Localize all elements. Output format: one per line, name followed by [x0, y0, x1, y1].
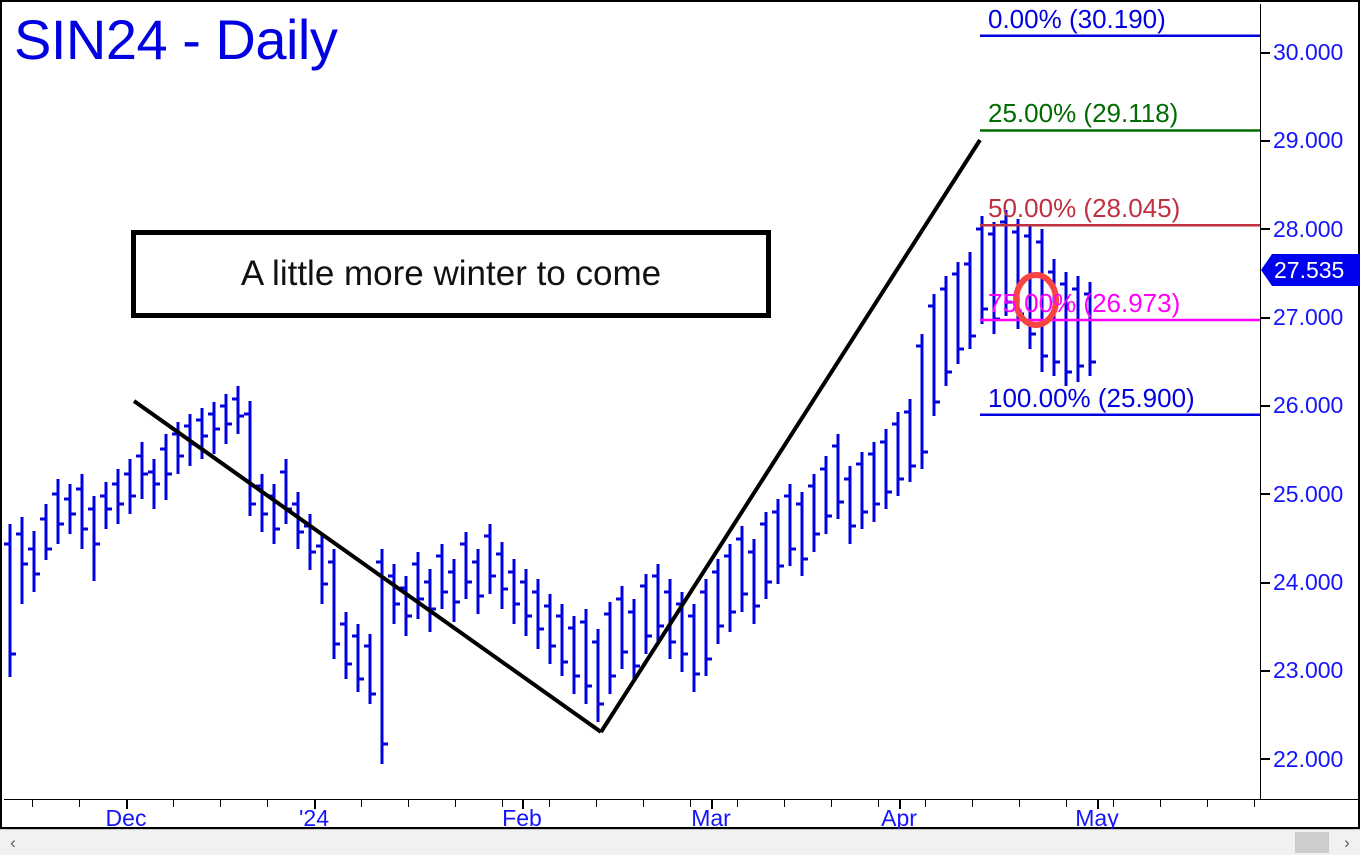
annotation-box[interactable]: A little more winter to come — [131, 230, 771, 318]
last-price-badge: 27.535 — [1261, 254, 1360, 286]
price-tick-label: 26.000 — [1273, 392, 1343, 419]
time-minor-tick — [1113, 800, 1114, 807]
price-tick: 22.000 — [1261, 745, 1343, 773]
time-minor-tick — [1066, 800, 1067, 807]
time-minor-tick — [643, 800, 644, 807]
price-tick-label: 24.000 — [1273, 569, 1343, 596]
price-tick-label: 28.000 — [1273, 216, 1343, 243]
scroll-right-icon[interactable]: › — [1334, 830, 1360, 855]
tick-dash-icon — [1261, 228, 1270, 230]
time-axis-label: '24 — [299, 805, 329, 829]
price-tick: 26.000 — [1261, 392, 1343, 420]
price-tick-label: 29.000 — [1273, 127, 1343, 154]
time-axis[interactable]: Dec'24FebMarAprMay — [4, 799, 1360, 829]
time-minor-tick — [173, 800, 174, 807]
fib-label-0.00: 0.00% (30.190) — [988, 4, 1166, 35]
price-tick-label: 25.000 — [1273, 481, 1343, 508]
time-minor-tick — [361, 800, 362, 807]
time-minor-tick — [925, 800, 926, 807]
chart-application: 0.00% (30.190)25.00% (29.118)50.00% (28.… — [0, 0, 1360, 855]
price-tick: 23.000 — [1261, 657, 1343, 685]
trendline-uptrend[interactable] — [601, 140, 980, 732]
last-price-value: 27.535 — [1272, 254, 1360, 286]
time-minor-tick — [220, 800, 221, 807]
time-minor-tick — [690, 800, 691, 807]
time-minor-tick — [408, 800, 409, 807]
tick-dash-icon — [1261, 52, 1270, 54]
time-minor-tick — [1019, 800, 1020, 807]
plot-area[interactable]: 0.00% (30.190)25.00% (29.118)50.00% (28.… — [4, 4, 1260, 799]
time-axis-label: Mar — [691, 805, 731, 829]
time-axis-label: Dec — [106, 805, 147, 829]
price-tick-label: 23.000 — [1273, 657, 1343, 684]
scroll-left-icon[interactable]: ‹ — [0, 830, 26, 855]
tick-dash-icon — [1261, 493, 1270, 495]
price-tick: 30.000 — [1261, 39, 1343, 67]
time-minor-tick — [878, 800, 879, 807]
time-minor-tick — [32, 800, 33, 807]
price-tick: 25.000 — [1261, 480, 1343, 508]
tick-dash-icon — [1261, 405, 1270, 407]
price-tick: 28.000 — [1261, 215, 1343, 243]
tick-dash-icon — [1261, 582, 1270, 584]
badge-arrow-icon — [1261, 254, 1272, 286]
time-minor-tick — [549, 800, 550, 807]
time-minor-tick — [267, 800, 268, 807]
price-tick: 24.000 — [1261, 569, 1343, 597]
scrollbar-thumb[interactable] — [1295, 832, 1329, 853]
tick-dash-icon — [1261, 140, 1270, 142]
trendline-downtrend[interactable] — [134, 401, 601, 732]
fib-label-100.00: 100.00% (25.900) — [988, 383, 1195, 414]
time-minor-tick — [972, 800, 973, 807]
fib-label-50.00: 50.00% (28.045) — [988, 193, 1180, 224]
price-tick-label: 22.000 — [1273, 746, 1343, 773]
time-minor-tick — [455, 800, 456, 807]
time-minor-tick — [737, 800, 738, 807]
tick-dash-icon — [1261, 317, 1270, 319]
price-tick: 27.000 — [1261, 304, 1343, 332]
annotation-text: A little more winter to come — [241, 254, 661, 294]
tick-dash-icon — [1261, 758, 1270, 760]
tick-dash-icon — [1261, 670, 1270, 672]
time-minor-tick — [831, 800, 832, 807]
time-minor-tick — [784, 800, 785, 807]
horizontal-scrollbar[interactable]: ‹ › — [0, 829, 1360, 855]
page-title: SIN24 - Daily — [14, 12, 337, 68]
price-axis[interactable]: 30.00029.00028.00027.00026.00025.00024.0… — [1260, 4, 1360, 799]
time-minor-tick — [79, 800, 80, 807]
time-axis-label: Apr — [881, 805, 917, 829]
fib-label-25.00: 25.00% (29.118) — [988, 98, 1178, 129]
time-minor-tick — [1254, 800, 1255, 807]
time-axis-label: Feb — [502, 805, 542, 829]
price-tick: 29.000 — [1261, 127, 1343, 155]
price-tick-label: 30.000 — [1273, 39, 1343, 66]
time-minor-tick — [502, 800, 503, 807]
time-axis-label: May — [1075, 805, 1118, 829]
price-tick-label: 27.000 — [1273, 304, 1343, 331]
fib-label-75.00: 75.00% (26.973) — [988, 288, 1180, 319]
time-minor-tick — [1207, 800, 1208, 807]
time-minor-tick — [1160, 800, 1161, 807]
time-minor-tick — [596, 800, 597, 807]
chart-frame: 0.00% (30.190)25.00% (29.118)50.00% (28.… — [0, 0, 1360, 829]
